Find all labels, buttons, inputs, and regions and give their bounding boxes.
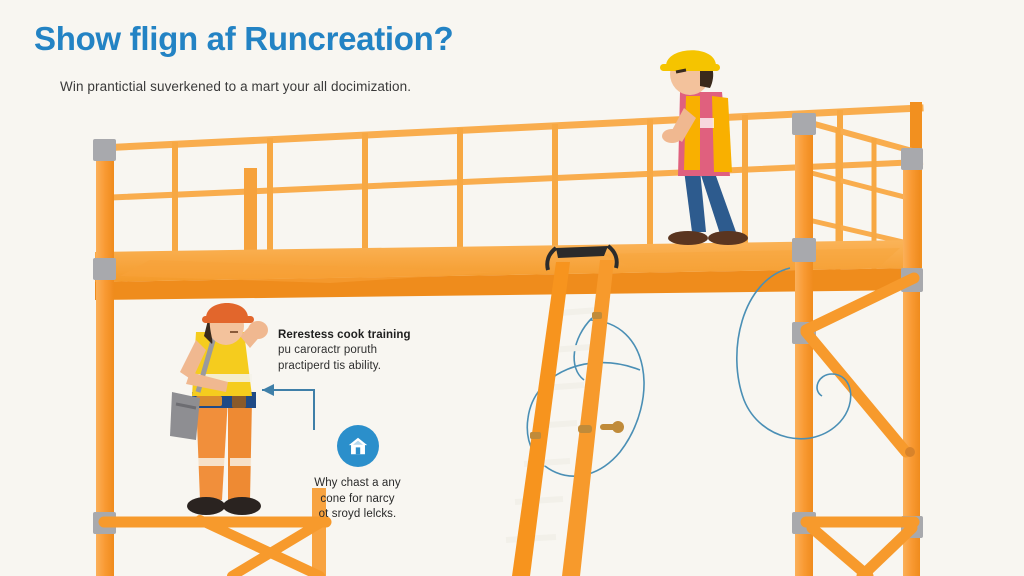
access-ladder: [506, 246, 624, 576]
page-title: Show flign af Runcreation?: [34, 20, 453, 58]
home-callout-body-line3: ot sroyd lelcks.: [290, 507, 425, 523]
worker-callout-body-line2: practiperd tis ability.: [278, 359, 438, 374]
platform-worker: [660, 50, 748, 245]
page-subtitle: Win prantictial suverkened to a mart you…: [60, 79, 411, 94]
home-callout-body-line2: cone for narcy: [290, 492, 425, 508]
worker-callout: Rerestess cook training pu caroractr por…: [278, 328, 438, 374]
illustration-canvas: Show flign af Runcreation? Win pranticti…: [0, 0, 1024, 576]
worker-callout-heading: Rerestess cook training: [278, 328, 438, 342]
worker-callout-body-line1: pu caroractr poruth: [278, 343, 438, 358]
home-callout: Why chast a any cone for narcy ot sroyd …: [290, 425, 425, 523]
home-icon-glyph: [347, 435, 369, 457]
home-callout-body-line1: Why chast a any: [290, 476, 425, 492]
home-icon[interactable]: [337, 425, 379, 467]
